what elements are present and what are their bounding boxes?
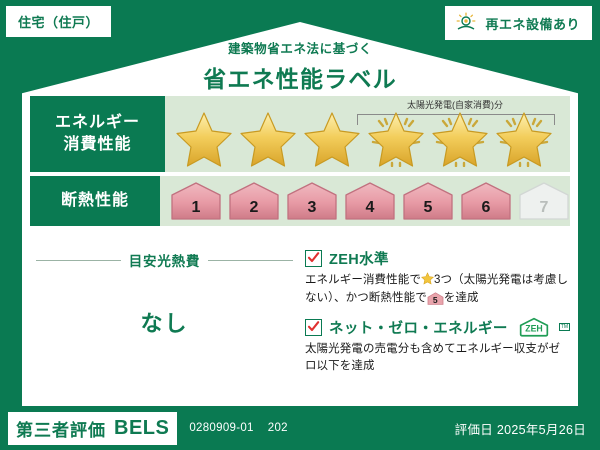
sun-solar-icon [454, 11, 478, 35]
heading-rule-right [208, 260, 293, 261]
insulation-badge-list: 1 2 3 4 5 6 [160, 181, 570, 221]
insulation-badge-1: 1 [170, 181, 222, 221]
insulation-badge-value: 2 [250, 199, 259, 217]
achievement-checks: ZEH水準 エネルギー消費性能で3つ（太陽光発電は考慮しない）、かつ断熱性能で5… [299, 246, 570, 398]
star-filled [301, 109, 363, 167]
check-description-zeh-level: エネルギー消費性能で3つ（太陽光発電は考慮しない）、かつ断熱性能で5を達成 [305, 272, 570, 308]
performance-rows: エネルギー 消費性能 太陽光発電(自家消費)分 [30, 96, 570, 230]
bels-wordmark: BELS [114, 417, 169, 440]
insulation-row: 断熱性能 1 2 3 4 [30, 176, 570, 226]
evaluation-date-label: 評価日 [455, 423, 493, 437]
energy-consumption-row: エネルギー 消費性能 太陽光発電(自家消費)分 [30, 96, 570, 172]
energy-performance-label: 住宅（住戸） 再エネ設備あり 建築物省エネ法に基づく 省エネ性能ラベル [0, 0, 600, 450]
star-solar [429, 109, 491, 167]
check-title-row: ZEH水準 [305, 248, 570, 269]
star-rating [165, 109, 555, 167]
utility-cost-heading: 目安光熱費 [30, 250, 299, 270]
zeh-trademark-mark: TM [559, 323, 570, 331]
insulation-badge-value: 6 [482, 199, 491, 217]
insulation-badge-value: 4 [366, 199, 375, 217]
lower-section: 目安光熱費 なし ZEH水準 エネルギー消費性能で3つ（太陽光発電は考慮しない）… [30, 246, 570, 398]
check-description-net-zero-energy: 太陽光発電の売電分も含めてエネルギー収支がゼロ以下を達成 [305, 341, 570, 377]
label-title-block: 建築物省エネ法に基づく 省エネ性能ラベル [0, 38, 600, 94]
insulation-label: 断熱性能 [30, 176, 160, 226]
insulation-badges-panel: 1 2 3 4 5 6 [160, 176, 570, 226]
check-label-zeh-level: ZEH水準 [329, 248, 389, 269]
insulation-badge-3: 3 [286, 181, 338, 221]
inline-star-icon [421, 272, 434, 285]
inline-insulation-badge: 5 [427, 292, 444, 305]
star-solar [493, 109, 555, 167]
renewable-energy-badge: 再エネ設備あり [445, 6, 592, 40]
bels-number: 0280909-01 [189, 422, 253, 434]
check-item-zeh-level: ZEH水準 エネルギー消費性能で3つ（太陽光発電は考慮しない）、かつ断熱性能で5… [305, 248, 570, 308]
renewable-badge-label: 再エネ設備あり [485, 14, 580, 33]
insulation-badge-value: 3 [308, 199, 317, 217]
utility-cost-value: なし [30, 306, 299, 338]
insulation-badge-6: 6 [460, 181, 512, 221]
utility-cost-block: 目安光熱費 なし [30, 246, 299, 398]
insulation-badge-5: 5 [402, 181, 454, 221]
zeh-house-logo-icon: ZEH [517, 317, 551, 337]
checkbox-zeh-level[interactable] [305, 250, 322, 267]
title-subtitle: 建築物省エネ法に基づく [0, 38, 600, 57]
energy-label-line2: 消費性能 [63, 134, 131, 156]
insulation-badge-value: 1 [192, 199, 201, 217]
desc-part-1: エネルギー消費性能で [305, 274, 421, 286]
third-party-label: 第三者評価 [16, 416, 106, 441]
evaluation-date: 評価日 2025年5月26日 [455, 419, 586, 438]
heading-rule-left [36, 260, 121, 261]
building-type-tag: 住宅（住戸） [6, 6, 111, 37]
star-filled [173, 109, 235, 167]
svg-text:ZEH: ZEH [525, 324, 543, 334]
star-solar [365, 109, 427, 167]
insulation-badge-7: 7 [518, 181, 570, 221]
bels-number-suffix: 202 [268, 422, 288, 434]
desc-part-3: を達成 [444, 292, 479, 304]
evaluation-date-value: 2025年5月26日 [497, 423, 586, 437]
check-item-net-zero-energy: ネット・ゼロ・エネルギー ZEH TM 太陽光発電の売電分も含めてエネルギー収支… [305, 317, 570, 377]
check-label-net-zero-energy: ネット・ゼロ・エネルギー [329, 317, 508, 338]
insulation-badge-value: 5 [424, 199, 433, 217]
star-filled [237, 109, 299, 167]
bels-logo-block: 第三者評価 BELS [8, 412, 177, 445]
insulation-badge-2: 2 [228, 181, 280, 221]
utility-cost-label: 目安光熱費 [129, 250, 201, 270]
energy-consumption-label: エネルギー 消費性能 [30, 96, 165, 172]
inline-badge-value: 5 [433, 295, 438, 305]
insulation-badge-4: 4 [344, 181, 396, 221]
footer-bar: 第三者評価 BELS 0280909-01 202 評価日 2025年5月26日 [0, 406, 600, 450]
energy-label-line1: エネルギー [55, 112, 140, 134]
insulation-badge-value: 7 [540, 199, 549, 217]
insulation-label-text: 断熱性能 [61, 190, 129, 212]
energy-stars-panel: 太陽光発電(自家消費)分 [165, 96, 570, 172]
page-title: 省エネ性能ラベル [0, 60, 600, 94]
checkbox-net-zero-energy[interactable] [305, 319, 322, 336]
check-title-row: ネット・ゼロ・エネルギー ZEH TM [305, 317, 570, 338]
